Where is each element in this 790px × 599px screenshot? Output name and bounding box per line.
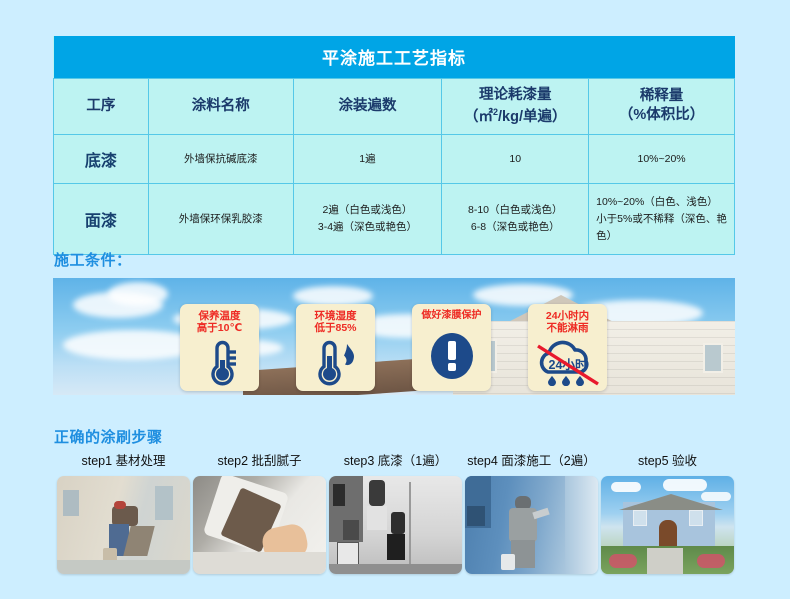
cell-paint-name-primer: 外墙保抗碱底漆: [148, 134, 293, 183]
spec-table: 平涂施工工艺指标 工序 涂料名称 涂装遍数 理论耗漆量 （㎡2/kg/单遍） 稀…: [53, 36, 735, 255]
header-cell-consumption: 理论耗漆量 （㎡2/kg/单遍）: [442, 79, 589, 135]
condition-caption-no-rain: 24小时内 不能淋雨: [546, 310, 589, 334]
condition-card-temperature: 保养温度 高于10℃: [180, 304, 259, 391]
condition-caption-temperature: 保养温度 高于10℃: [197, 310, 242, 334]
condition-card-film-protection: 做好漆膜保护: [412, 304, 491, 391]
step-thumbnail-1[interactable]: [57, 476, 190, 574]
condition-card-humidity: 环境湿度 低于85%: [296, 304, 375, 391]
exclamation-circle-icon: [412, 322, 491, 392]
cloud-shape: [108, 282, 168, 306]
condition-card-no-rain: 24小时内 不能淋雨 24小时: [528, 304, 607, 391]
thermometer-flame-icon: [296, 334, 375, 391]
cell-coats-primer: 1遍: [293, 134, 442, 183]
worker-blue-wall-photo: [465, 476, 598, 574]
header-cell-coats: 涂装遍数: [293, 79, 442, 135]
table-row: 底漆 外墙保抗碱底漆 1遍 10 10%~20%: [54, 134, 735, 183]
cell-consumption-topcoat: 8-10（白色或浅色） 6-8（深色或艳色）: [442, 183, 589, 254]
scaffold-workers-bw-photo: [329, 476, 462, 574]
step-thumbnail-2[interactable]: [193, 476, 326, 574]
step-thumbnail-3[interactable]: [329, 476, 462, 574]
condition-caption-film-protection: 做好漆膜保护: [422, 310, 482, 322]
steps-heading: 正确的涂刷步骤: [54, 426, 163, 447]
table-title-row: 平涂施工工艺指标: [54, 36, 735, 79]
house-window: [703, 343, 723, 373]
header-sub-consumption: （㎡2/kg/单遍）: [444, 106, 586, 127]
cloud-shape: [293, 286, 373, 306]
step-thumbnail-4[interactable]: [465, 476, 598, 574]
table-row: 面漆 外墙保环保乳胶漆 2遍（白色或浅色） 3-4遍（深色或艳色） 8-10（白…: [54, 183, 735, 254]
header-cell-dilution: 稀释量 （%体积比）: [589, 79, 735, 135]
cell-coats-topcoat: 2遍（白色或浅色） 3-4遍（深色或艳色）: [293, 183, 442, 254]
cell-paint-name-topcoat: 外墙保环保乳胶漆: [148, 183, 293, 254]
construction-conditions-banner: 保养温度 高于10℃ 环境湿度 低于85%: [53, 278, 735, 395]
no-rain-cloud-icon: 24小时: [528, 334, 607, 391]
worker-painting-wall-photo: [57, 476, 190, 574]
putty-trowel-photo: [193, 476, 326, 574]
cell-dilution-primer: 10%~20%: [589, 134, 735, 183]
cell-process-primer: 底漆: [54, 134, 149, 183]
condition-caption-humidity: 环境湿度 低于85%: [314, 310, 356, 334]
header-cell-process: 工序: [54, 79, 149, 135]
header-main-coats: 涂装遍数: [338, 98, 396, 114]
cell-dilution-topcoat: 10%~20%（白色、浅色） 小于5%或不稀释（深色、艳色）: [589, 183, 735, 254]
header-main-paint-name: 涂料名称: [192, 98, 250, 114]
cell-consumption-primer: 10: [442, 134, 589, 183]
thermometer-icon: [180, 334, 259, 391]
infographic-page: 平涂施工工艺指标 工序 涂料名称 涂装遍数 理论耗漆量 （㎡2/kg/单遍） 稀…: [0, 0, 790, 599]
step-label-1: step1 基材处理: [57, 450, 190, 469]
header-cell-paint-name: 涂料名称: [148, 79, 293, 135]
step-label-3: step3 底漆（1遍）: [329, 450, 462, 469]
header-sub-dilution: （%体积比）: [591, 106, 732, 126]
step-label-4: step4 面漆施工（2遍）: [465, 450, 598, 469]
conditions-heading: 施工条件：: [54, 249, 132, 270]
table-title: 平涂施工工艺指标: [54, 36, 735, 79]
step-label-5: step5 验收: [601, 450, 734, 469]
finished-blue-house-photo: [601, 476, 734, 574]
cell-process-topcoat: 面漆: [54, 183, 149, 254]
header-main-consumption: 理论耗漆量: [479, 87, 552, 103]
step-thumbnail-5[interactable]: [601, 476, 734, 574]
header-main-process: 工序: [86, 98, 115, 114]
prohibition-slash: [538, 346, 598, 384]
table-header-row: 工序 涂料名称 涂装遍数 理论耗漆量 （㎡2/kg/单遍） 稀释量 （%体积比）: [54, 79, 735, 135]
header-main-dilution: 稀释量: [640, 88, 684, 104]
step-label-2: step2 批刮腻子: [193, 450, 326, 469]
